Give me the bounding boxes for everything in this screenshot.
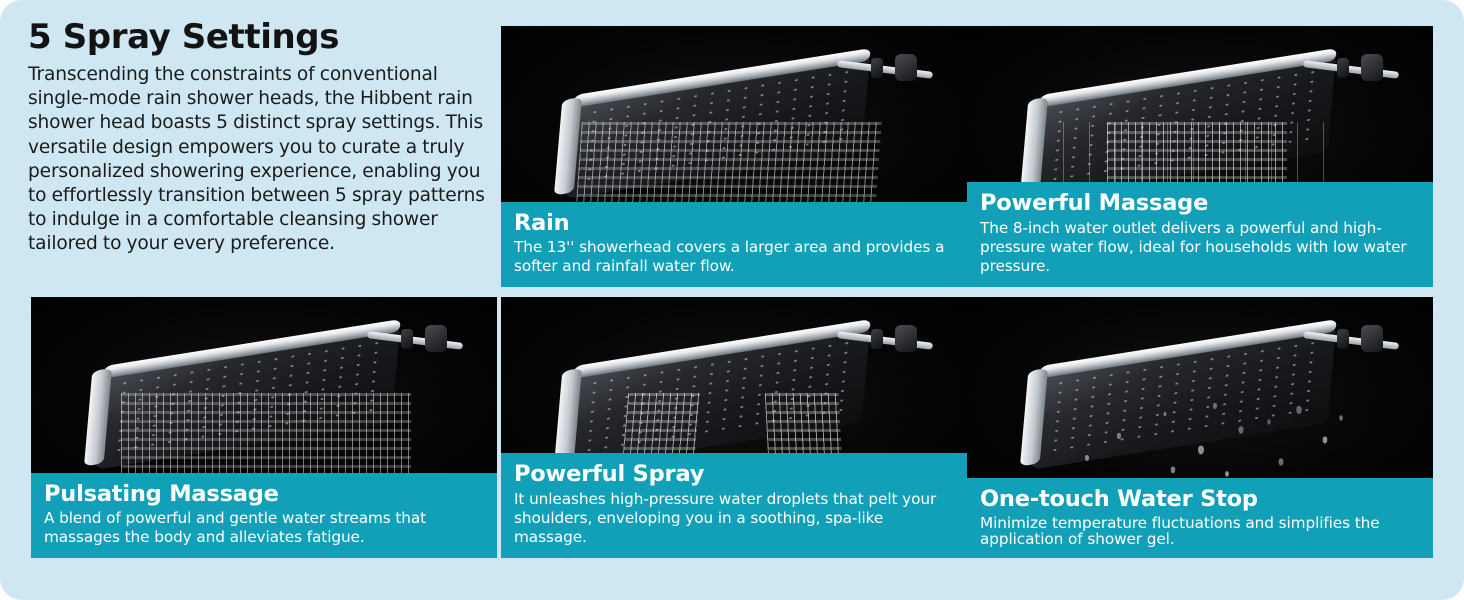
mode-knob-icon xyxy=(1361,325,1383,352)
water-droplet-icon xyxy=(1085,455,1089,461)
spray-panel-rain[interactable]: Rain The 13'' showerhead covers a larger… xyxy=(501,26,967,287)
water-droplet-icon xyxy=(1323,437,1328,444)
spray-panel-powerful-spray[interactable]: Powerful Spray It unleashes high-pressur… xyxy=(501,297,967,558)
panel-description: The 13'' showerhead covers a larger area… xyxy=(514,238,954,276)
water-droplet-icon xyxy=(1213,403,1217,409)
water-droplet-icon xyxy=(1279,458,1284,465)
spray-setting-grid: Rain The 13'' showerhead covers a larger… xyxy=(31,26,1433,563)
water-droplet-icon xyxy=(1296,406,1301,414)
water-droplet-icon xyxy=(1239,426,1244,433)
panel-caption: Rain The 13'' showerhead covers a larger… xyxy=(501,202,967,287)
mode-selector-icon xyxy=(871,329,883,349)
panel-caption: One-touch Water Stop Minimize temperatur… xyxy=(967,478,1433,558)
water-droplet-icon xyxy=(1225,471,1229,477)
spray-panel-pulsating-massage[interactable]: Pulsating Massage A blend of powerful an… xyxy=(31,297,497,558)
panel-caption: Powerful Massage The 8-inch water outlet… xyxy=(967,182,1433,287)
mode-selector-icon xyxy=(1337,329,1349,349)
product-feature-infographic: 5 Spray Settings Transcending the constr… xyxy=(0,0,1464,600)
panel-title: Pulsating Massage xyxy=(44,482,484,507)
water-droplet-icon xyxy=(1339,415,1342,420)
water-droplet-icon xyxy=(1117,433,1121,439)
water-droplet-icon xyxy=(1171,467,1176,474)
panel-description: The 8-inch water outlet delivers a power… xyxy=(980,219,1420,276)
water-droplet-icon xyxy=(1164,412,1167,416)
panel-title: Powerful Massage xyxy=(980,191,1420,216)
mode-knob-icon xyxy=(895,325,917,352)
mode-knob-icon xyxy=(895,54,917,81)
mode-knob-icon xyxy=(425,325,447,352)
mode-knob-icon xyxy=(1361,54,1383,81)
panel-title: One-touch Water Stop xyxy=(980,487,1420,512)
panel-description: It unleashes high-pressure water droplet… xyxy=(514,490,954,547)
panel-description: A blend of powerful and gentle water str… xyxy=(44,509,484,547)
panel-title: Powerful Spray xyxy=(514,462,954,487)
mode-selector-icon xyxy=(1337,58,1349,78)
spray-panel-water-stop[interactable]: One-touch Water Stop Minimize temperatur… xyxy=(967,297,1433,558)
panel-title: Rain xyxy=(514,211,954,236)
panel-caption: Pulsating Massage A blend of powerful an… xyxy=(31,473,497,558)
mode-selector-icon xyxy=(871,58,883,78)
panel-caption: Powerful Spray It unleashes high-pressur… xyxy=(501,453,967,558)
mode-selector-icon xyxy=(401,329,413,349)
spray-panel-powerful-massage[interactable]: Powerful Massage The 8-inch water outlet… xyxy=(967,26,1433,287)
water-droplet-icon xyxy=(1198,446,1204,455)
water-droplet-icon xyxy=(1267,419,1271,424)
panel-description: Minimize temperature fluctuations and si… xyxy=(980,515,1420,547)
